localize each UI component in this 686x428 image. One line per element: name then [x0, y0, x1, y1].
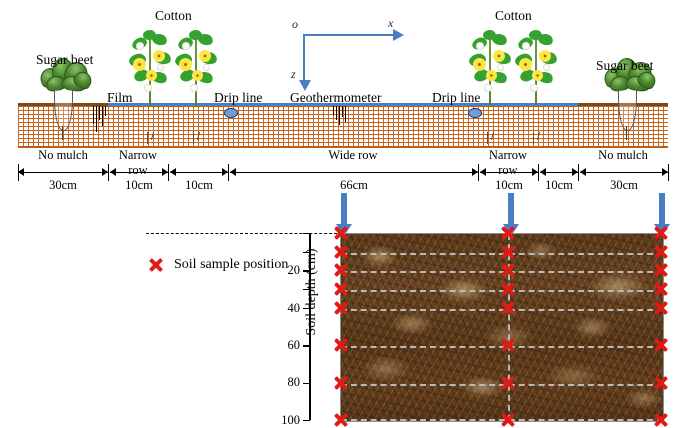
sample-marker — [654, 263, 669, 278]
dim-arrow-right — [102, 168, 108, 176]
ruler-tick — [578, 164, 579, 181]
sample-marker — [654, 413, 669, 428]
cotton-stem — [195, 32, 197, 106]
axis-origin-label: o — [292, 17, 298, 32]
zone-name-1: Narrow row — [108, 148, 168, 178]
depth-tick-30 — [303, 289, 310, 290]
ruler-tick — [228, 164, 229, 181]
dim-text-1: 10cm — [110, 178, 168, 193]
x-axis-arrowhead-icon — [393, 29, 404, 41]
sample-marker — [334, 375, 349, 390]
geothermometer-probe — [345, 106, 346, 122]
soil-profile-panel: Soil sample position Soil depth (cm) 20 … — [0, 200, 686, 425]
cotton-stem — [149, 32, 151, 106]
cotton-label-left: Cotton — [155, 8, 192, 24]
zone-name-0: No mulch — [18, 148, 108, 163]
dim-arrow-left — [170, 168, 176, 176]
film-label: Film — [107, 90, 133, 106]
sample-marker — [654, 226, 669, 241]
depth-label-40: 40 — [266, 301, 300, 316]
geothermometer-label: Geothermometer — [290, 90, 381, 106]
sample-marker — [334, 282, 349, 297]
sample-marker — [501, 413, 516, 428]
sample-marker — [501, 338, 516, 353]
root-strand — [99, 106, 100, 120]
drip-emitter-right — [468, 108, 482, 118]
depth-tick-60 — [303, 345, 310, 346]
x-axis-line — [303, 34, 395, 36]
dim-arrow-right — [472, 168, 478, 176]
ruler-tick — [168, 164, 169, 181]
axis-z-label: z — [291, 67, 296, 82]
zone-name-3: Wide row — [228, 148, 478, 163]
root-strand — [105, 106, 106, 116]
dim-text-4: 10cm — [480, 178, 538, 193]
sample-marker — [654, 244, 669, 259]
root-strand — [96, 106, 97, 132]
sample-marker — [501, 375, 516, 390]
cotton-plant-4 — [514, 28, 560, 106]
soil-profile-block — [340, 233, 664, 422]
dim-line-0 — [18, 172, 108, 173]
sample-marker — [501, 244, 516, 259]
dim-arrow-right — [222, 168, 228, 176]
depth-label-60: 60 — [266, 338, 300, 353]
sample-marker — [334, 226, 349, 241]
z-axis-line — [303, 34, 305, 82]
dim-line-4 — [480, 172, 538, 173]
ruler-tick — [478, 164, 479, 181]
sample-marker — [501, 282, 516, 297]
sample-marker — [654, 282, 669, 297]
dim-text-3: 66cm — [230, 178, 478, 193]
dim-text-6: 30cm — [580, 178, 668, 193]
dim-arrow-right — [532, 168, 538, 176]
depth-label-100: 100 — [266, 413, 300, 428]
cotton-label-right: Cotton — [495, 8, 532, 24]
dim-arrow-right — [162, 168, 168, 176]
geothermometer-probe — [333, 106, 334, 115]
root-strand — [93, 106, 94, 124]
cotton-stem — [489, 32, 491, 106]
depth-tick-10 — [303, 252, 310, 253]
axis-x-label: x — [388, 16, 393, 31]
soil-sample-marker-icon — [149, 258, 164, 273]
dim-text-2: 10cm — [170, 178, 228, 193]
beet-root-tip — [62, 126, 63, 140]
sugar-beet-label-right: Sugar beet — [596, 58, 653, 74]
dim-arrow-left — [480, 168, 486, 176]
cotton-plant-1 — [128, 28, 174, 106]
sample-marker — [334, 338, 349, 353]
depth-axis-title: Soil depth (cm) — [304, 227, 320, 357]
depth-label-80: 80 — [266, 375, 300, 390]
dim-text-5: 10cm — [540, 178, 578, 193]
zone-name-6: No mulch — [578, 148, 668, 163]
dim-text-0: 30cm — [18, 178, 108, 193]
coordinate-axes: o x z — [300, 18, 410, 90]
sample-marker — [501, 300, 516, 315]
dimension-ruler: No mulch Narrow row Wide row Narrow row … — [0, 148, 686, 194]
geothermometer-probe — [339, 106, 340, 125]
cotton-stem — [535, 32, 537, 106]
depth-tick-20 — [303, 270, 310, 271]
depth-tick-40 — [303, 308, 310, 309]
dim-line-3 — [230, 172, 478, 173]
dim-arrow-left — [18, 168, 24, 176]
dim-arrow-left — [230, 168, 236, 176]
geothermometer-probe — [336, 106, 337, 120]
figure-root: o x z Sugar beet — [0, 0, 686, 425]
depth-tick-0 — [303, 233, 310, 234]
sample-marker — [334, 413, 349, 428]
sample-marker — [334, 244, 349, 259]
root-strand — [102, 106, 103, 126]
drip-line-label-left: Drip line — [214, 90, 262, 106]
sample-marker — [334, 263, 349, 278]
dim-line-2 — [170, 172, 228, 173]
dim-arrow-left — [110, 168, 116, 176]
drip-line-label-right: Drip line — [432, 90, 480, 106]
sample-marker — [654, 300, 669, 315]
sample-marker — [654, 375, 669, 390]
dim-line-6 — [580, 172, 668, 173]
sample-marker — [654, 338, 669, 353]
sample-marker — [501, 226, 516, 241]
dim-line-1 — [110, 172, 168, 173]
dim-arrow-right — [572, 168, 578, 176]
dim-arrow-left — [580, 168, 586, 176]
dim-arrow-right — [662, 168, 668, 176]
ruler-tick — [108, 164, 109, 181]
drip-emitter-left — [224, 108, 238, 118]
sample-marker — [334, 300, 349, 315]
depth-tick-100 — [303, 420, 310, 421]
zone-name-4: Narrow row — [478, 148, 538, 178]
sugar-beet-label-left: Sugar beet — [36, 52, 93, 68]
sample-marker — [501, 263, 516, 278]
dim-arrow-left — [540, 168, 546, 176]
beet-root-tip — [626, 126, 627, 140]
ruler-tick — [668, 164, 669, 181]
depth-tick-80 — [303, 383, 310, 384]
depth-label-20: 20 — [266, 263, 300, 278]
ruler-tick — [538, 164, 539, 181]
geothermometer-probe — [342, 106, 343, 117]
